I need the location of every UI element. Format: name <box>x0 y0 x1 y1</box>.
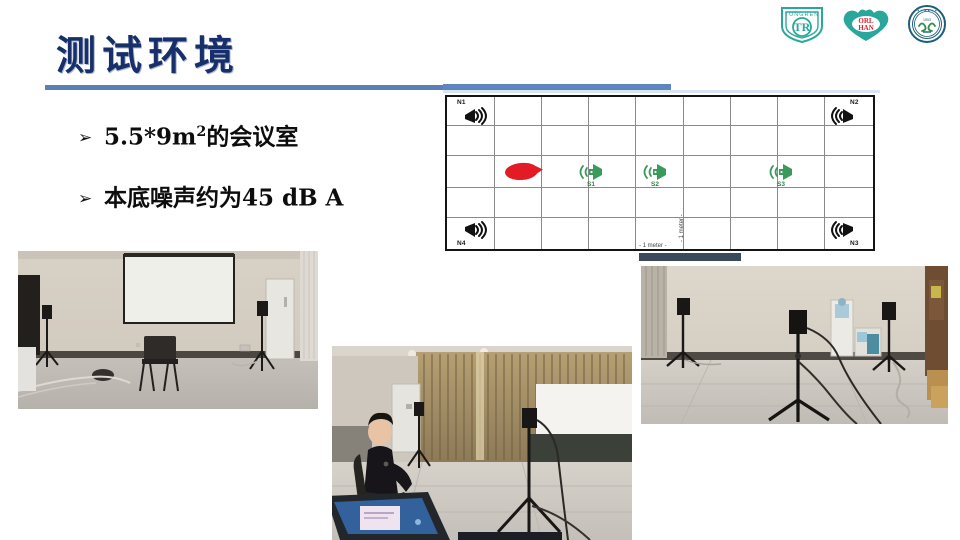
bullet-list: ➢ 5.5*9m2的会议室 ➢ 本底噪声约为45 dB A <box>78 124 418 246</box>
noise-speaker-n1-icon <box>459 103 493 127</box>
source-speaker-s1-label: S1 <box>579 181 603 188</box>
noise-speaker-n1-label: N1 <box>457 99 466 106</box>
noise-speaker-n3-label: N3 <box>850 240 859 247</box>
svg-text:· · · · · ·: · · · · · · <box>922 35 932 39</box>
source-speaker-s2-label: S2 <box>643 181 667 188</box>
bullet-text: 本底噪声约为45 dB A <box>104 185 343 212</box>
diagram-grid: N1 N2 <box>445 95 875 251</box>
grid-line-h <box>447 155 873 156</box>
diagram-accent-bar-light <box>443 90 880 93</box>
institute-seal-logo: ★ ★ ★ ★ ★ ★ 1953 · · · · · · <box>902 4 952 49</box>
page-title: 测试环境 <box>56 36 240 76</box>
noise-speaker-n2-icon <box>825 103 859 127</box>
grid-line-v <box>730 97 731 249</box>
slide-root: TONGREN TR ORL HAN ★ ★ ★ ★ ★ ★ <box>0 0 960 540</box>
bullet-superscript: 2 <box>196 124 206 140</box>
tongren-logo: TONGREN TR <box>774 4 830 49</box>
subject-position-marker <box>504 162 538 181</box>
scale-label-horizontal: - 1 meter - <box>639 243 667 249</box>
bullet-text-prefix: 本底噪声约为45 dB A <box>104 185 343 212</box>
photo-speaker-array-setup <box>641 266 948 424</box>
noise-speaker-n4-label: N4 <box>457 240 466 247</box>
room-layout-diagram: N1 N2 <box>443 84 880 262</box>
logo-bar: TONGREN TR ORL HAN ★ ★ ★ ★ ★ ★ <box>774 4 952 49</box>
grid-line-h <box>447 125 873 126</box>
noise-speaker-n2-label: N2 <box>850 99 859 106</box>
diagram-bottom-shadow <box>639 253 741 261</box>
orlhan-logo: ORL HAN <box>840 4 892 49</box>
bullet-text: 5.5*9m2的会议室 <box>104 124 298 151</box>
source-speaker-s3-label: S3 <box>769 181 793 188</box>
list-item: ➢ 5.5*9m2的会议室 <box>78 124 418 151</box>
svg-text:HAN: HAN <box>858 24 874 32</box>
list-item: ➢ 本底噪声约为45 dB A <box>78 185 418 212</box>
bullet-arrow-icon: ➢ <box>78 191 104 208</box>
photo-seated-subject-test <box>332 346 632 540</box>
grid-line-v <box>635 97 636 249</box>
svg-text:1953: 1953 <box>923 18 931 22</box>
grid-line-v <box>494 97 495 249</box>
photo-conference-room-screen <box>18 251 318 409</box>
scale-label-vertical: - 1 meter - <box>679 214 685 242</box>
bullet-text-prefix: 5.5*9m <box>104 124 196 151</box>
grid-line-h <box>447 217 873 218</box>
svg-text:TR: TR <box>794 20 811 34</box>
title-underline <box>45 85 460 90</box>
bullet-arrow-icon: ➢ <box>78 130 104 147</box>
bullet-text-suffix: 的会议室 <box>206 124 298 151</box>
svg-text:★ ★ ★ ★ ★ ★: ★ ★ ★ ★ ★ ★ <box>917 9 938 13</box>
